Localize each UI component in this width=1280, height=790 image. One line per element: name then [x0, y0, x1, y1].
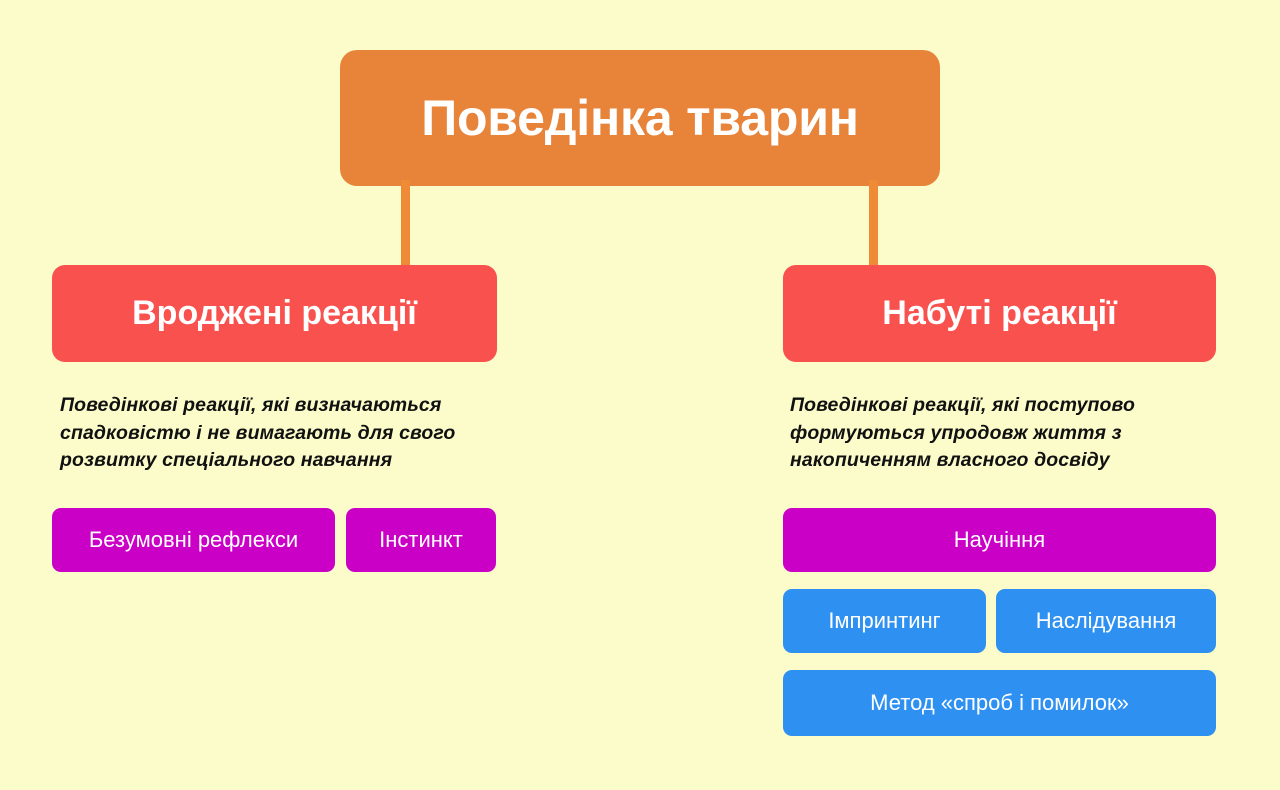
branch-header-acquired: Набуті реакції	[783, 265, 1216, 362]
leaf-imprinting: Імпринтинг	[783, 589, 986, 653]
leaf-trial-and-error-method: Метод «спроб і помилок»	[783, 670, 1216, 736]
branch-header-innate: Вроджені реакції	[52, 265, 497, 362]
branch-description-acquired: Поведінкові реакції, які поступово форму…	[790, 392, 1190, 475]
leaf-learning: Научіння	[783, 508, 1216, 572]
root-node-animal-behaviour: Поведінка тварин	[340, 50, 940, 186]
connector-root-to-innate	[401, 180, 410, 270]
branch-description-innate: Поведінкові реакції, які визначаються сп…	[60, 392, 470, 475]
leaf-instinct: Інстинкт	[346, 508, 496, 572]
leaf-imitation: Наслідування	[996, 589, 1216, 653]
connector-root-to-acquired	[869, 180, 878, 270]
behaviour-classification-diagram: Поведінка тварин Вроджені реакції Поведі…	[0, 0, 1280, 790]
leaf-unconditioned-reflexes: Безумовні рефлекси	[52, 508, 335, 572]
